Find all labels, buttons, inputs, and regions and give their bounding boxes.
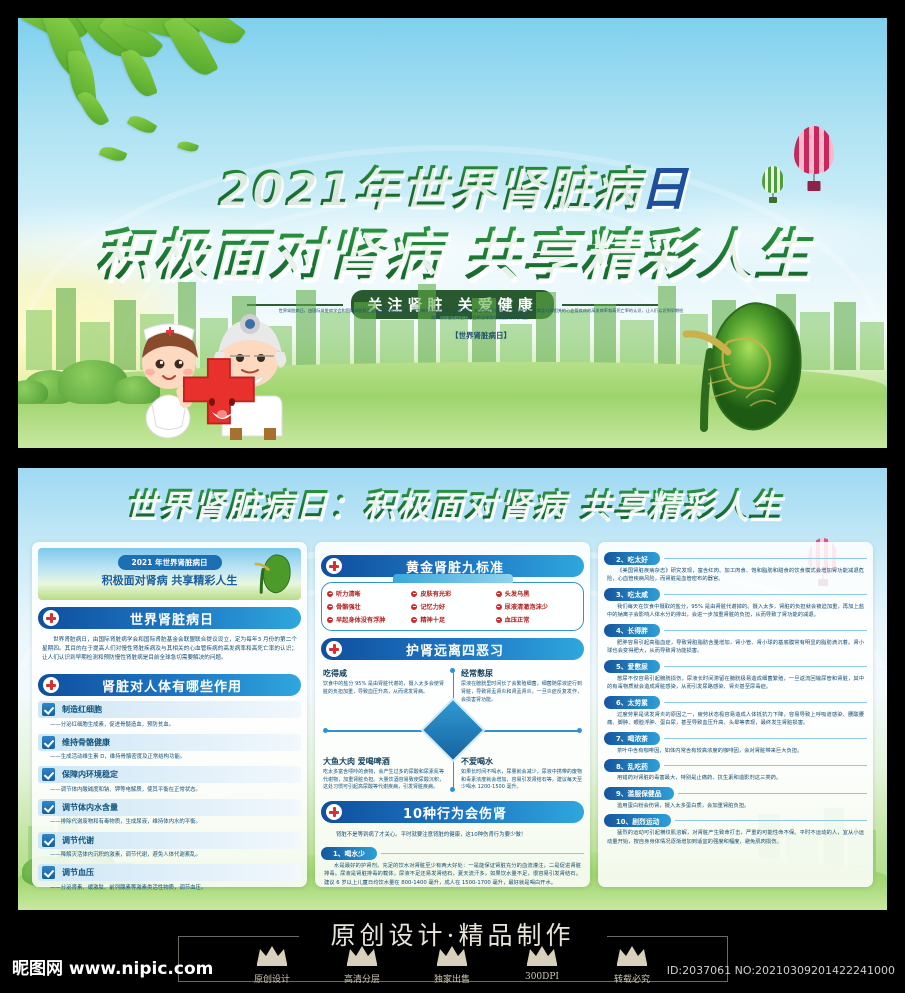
- rule-line: [675, 820, 867, 821]
- axis-node: [450, 787, 455, 792]
- section-title: 护肾远离四恶习: [342, 640, 584, 659]
- list-item: 制造红细胞 ——分泌红细胞生成素，促进骨髓造血，预防贫血。: [38, 701, 301, 730]
- section-title: 10种行为会伤肾: [342, 803, 584, 822]
- numbered-item-text: 猛烈的运动可引起横纹肌溶解，对肾脏产生致命打击，严重的可能性命不保。平时不运动的…: [604, 827, 867, 846]
- badge-label: 原创设计: [232, 972, 312, 985]
- nine-item-label: 精神十足: [420, 615, 445, 624]
- habit-text: 如果长时间不喝水，尿量就会减少，尿液中携带的废物和毒素浓度就会增加，容易引发肾结…: [461, 769, 582, 792]
- numbered-item: 7、喝浓茶 茶叶中含有咖啡因，如体内常含有较高浓度的咖啡因，会对肾脏带来巨大负担…: [604, 732, 867, 755]
- nine-standards-box: 听力清晰 皮肤有光彩 头发乌黑 骨骼强壮 记忆力好 尿液清澈泡沫少 早起身体没有…: [321, 582, 584, 631]
- nine-item-label: 尿液清澈泡沫少: [505, 602, 548, 611]
- four-habits-diagram: 吃得咸 饮食中的盐分 95% 是由肾脏代谢的，摄入太多会使肾脏的负担加重，导致血…: [321, 666, 584, 794]
- axis-node: [323, 728, 328, 733]
- section-header-four-habits: 护肾远离四恶习: [321, 638, 584, 660]
- nine-item: 精神十足: [411, 615, 493, 624]
- watermark-cn: 昵图网: [12, 959, 63, 979]
- bullet-icon: [496, 591, 502, 597]
- top-banner: 2021年世界肾脏病日 积极面对肾病 共享精彩人生 关注肾脏 关爱健康: [18, 18, 887, 448]
- numbered-item: 3、吃太咸 我们每天在饮食中摄取的盐分，95% 是由肾脏代谢掉的。摄入太多，肾脏…: [604, 588, 867, 620]
- check-icon: [42, 866, 55, 879]
- item-number-pill: 7、喝浓茶: [604, 732, 660, 745]
- center-diamond: [420, 697, 485, 762]
- bullet-icon: [327, 591, 333, 597]
- numbered-item-text: 《美国肾脏疾病杂志》研究发现，富含红肉、加工肉食、饱和脂肪和甜食的饮食模式会增加…: [604, 565, 867, 584]
- column-middle: 黄金肾脏九标准 听力清晰 皮肤有光彩 头发乌黑 骨骼强壮 记忆力好 尿液清澈泡沫…: [315, 542, 590, 887]
- section-header-kidney-functions: 肾脏对人体有哪些作用: [38, 674, 301, 696]
- column-right: 2、吃太好 《美国肾脏疾病杂志》研究发现，富含红肉、加工肉食、饱和脂肪和甜食的饮…: [598, 542, 873, 887]
- section-header-world-kidney-day: 世界肾脏病日: [38, 607, 301, 629]
- numbered-item: 2、吃太好 《美国肾脏疾病杂志》研究发现，富含红肉、加工肉食、饱和脂肪和甜食的饮…: [604, 552, 867, 584]
- mini-banner-pill: 2021 年世界肾脏病日: [118, 555, 222, 570]
- bullet-icon: [411, 617, 417, 623]
- nine-item-label: 头发乌黑: [505, 589, 530, 598]
- check-icon: [42, 834, 55, 847]
- numbered-item-header: 1、喝水少: [321, 847, 584, 860]
- banner-paragraph: 世界肾脏病日，由国际肾脏病学会和国际肾脏基金会联盟联合提议设立，定为每年3月份的…: [278, 308, 684, 321]
- panel-title: 世界肾脏病日：积极面对肾病 共享精彩人生: [18, 478, 887, 526]
- habit-title: 大鱼大肉 爱喝啤酒: [323, 756, 444, 767]
- badge-item: 独家出售: [412, 944, 492, 985]
- habit-title: 吃得咸: [323, 668, 444, 679]
- numbered-item-text: 用错药对肾脏的毒害最大，特别是止痛药、抗生素和造影剂这三类药。: [604, 772, 867, 782]
- list-item-note: ——排除代谢废物和有毒物质，生成尿液，维持体内水的平衡。: [38, 816, 301, 828]
- watermark-url: www.nipic.com: [69, 959, 213, 979]
- habit-block: 吃得咸 饮食中的盐分 95% 是由肾脏代谢的，摄入太多会使肾脏的负担加重，导致血…: [323, 668, 444, 697]
- panel-columns: 2021 年世界肾脏病日 积极面对肾病 共享精彩人生 世界肾脏病日 世界肾脏病日…: [18, 542, 887, 887]
- habit-block: 大鱼大肉 爱喝啤酒 吃太多富含嘌呤的食物，会产生过多的尿酸和尿素氮等代谢物，加重…: [323, 756, 444, 792]
- crown-icon: [435, 944, 469, 966]
- nine-item: 记忆力好: [411, 602, 493, 611]
- bullet-icon: [327, 604, 333, 610]
- list-item: 维持骨骼健康 ——生成活动维生素 D，维持骨骼密度及正常结构功能。: [38, 734, 301, 763]
- list-item: 调节血压 ——分泌肾素、缓激肽、前列腺素等激素类活性物质，调节血压。: [38, 864, 301, 893]
- middle-card: 黄金肾脏九标准 听力清晰 皮肤有光彩 头发乌黑 骨骼强壮 记忆力好 尿液清澈泡沫…: [315, 542, 590, 887]
- list-item-note: ——分泌红细胞生成素，促进骨髓造血，预防贫血。: [38, 718, 301, 730]
- crown-icon: [525, 944, 559, 966]
- numbered-item-text: 水是最好的护肾剂。充足的饮水对肾脏至少有两大好处：一是能保证肾脏充分的血流灌注，…: [321, 860, 584, 887]
- rule-line: [664, 738, 867, 739]
- item-number-pill: 10、剧烈运动: [604, 814, 671, 827]
- nurse-doctor-characters: [122, 300, 302, 440]
- mini-banner-subtitle: 积极面对肾病 共享精彩人生: [102, 572, 238, 588]
- footer-badges: 原创设计 高清分层 独家出售 300DPI 转载必究: [232, 944, 672, 985]
- item-number-pill: 3、吃太咸: [604, 588, 660, 601]
- section-title: 世界肾脏病日: [59, 609, 301, 628]
- nine-item: 头发乌黑: [496, 589, 578, 598]
- habit-title: 不爱喝水: [461, 756, 582, 767]
- list-item-label: 调节血压: [62, 867, 94, 878]
- badge-label: 高清分层: [322, 972, 402, 985]
- list-item-note: ——降解灭活体内沉积的激素，调节代谢，避免人体代谢紊乱。: [38, 849, 301, 861]
- numbered-item: 10、剧烈运动 猛烈的运动可引起横纹肌溶解，对肾脏产生致命打击，严重的可能性命不…: [604, 814, 867, 846]
- badge-item: 300DPI: [502, 944, 582, 985]
- bullet-icon: [411, 604, 417, 610]
- banner-tagline: 【世界肾脏病日】: [278, 330, 684, 341]
- badge-label: 转载必究: [592, 972, 672, 985]
- list-item-label: 调节代谢: [62, 835, 94, 846]
- numbered-item-text: 过度劳累是诱发肾炎的原因之一，疲劳状态极容易造成人体抵抗力下降，容易导致上呼吸道…: [604, 709, 867, 728]
- info-panel: 世界肾脏病日：积极面对肾病 共享精彩人生 2021 年世界肾脏病日 积极面对肾病…: [18, 468, 887, 910]
- nine-item: 皮肤有光彩: [411, 589, 493, 598]
- list-item-note: ——调节体内酸碱度和钠、钾等电解质，使其平衡在正常状态。: [38, 783, 301, 795]
- list-item-note: ——生成活动维生素 D，维持骨骼密度及正常结构功能。: [38, 751, 301, 763]
- item-number-pill: 1、喝水少: [321, 847, 377, 860]
- rule-line: [664, 558, 867, 559]
- kidney-illustration-icon: [670, 294, 810, 440]
- nine-item-label: 血压正常: [505, 615, 530, 624]
- badge-label: 300DPI: [502, 972, 582, 982]
- red-cross-icon: [326, 558, 342, 574]
- nine-item-label: 早起身体没有浮肿: [336, 615, 386, 624]
- nine-item-label: 听力清晰: [336, 589, 361, 598]
- image-id-text: ID:2037061 NO:20210309201422241000: [667, 964, 895, 977]
- rule-line: [664, 594, 867, 595]
- item-number-pill: 9、滥服保健品: [604, 787, 674, 800]
- rule-line: [664, 630, 867, 631]
- list-item: 调节代谢 ——降解灭活体内沉积的激素，调节代谢，避免人体代谢紊乱。: [38, 832, 301, 861]
- nine-item: 血压正常: [496, 615, 578, 624]
- banner-title-line1: 2021年世界肾脏病日: [18, 150, 887, 219]
- right-card: 2、吃太好 《美国肾脏疾病杂志》研究发现，富含红肉、加工肉食、饱和脂肪和甜食的饮…: [598, 542, 873, 887]
- item-number-pill: 2、吃太好: [604, 552, 660, 565]
- item-number-pill: 8、乱吃药: [604, 759, 660, 772]
- rule-line: [664, 666, 867, 667]
- nine-item-label: 记忆力好: [420, 602, 445, 611]
- numbered-item-text: 肥胖容易引起高脂血症，导致肾脏脂肪含量增加，肾小管、肾小球的基底膜常有明显的脂肪…: [604, 637, 867, 656]
- numbered-item: 8、乱吃药 用错药对肾脏的毒害最大，特别是止痛药、抗生素和造影剂这三类药。: [604, 759, 867, 782]
- red-cross-icon: [43, 677, 59, 693]
- badge-item: 高清分层: [322, 944, 402, 985]
- list-item-label: 维持骨骼健康: [62, 737, 110, 748]
- check-icon: [42, 736, 55, 749]
- red-cross-icon: [326, 641, 342, 657]
- numbered-item-text: 茶叶中含有咖啡因，如体内常含有较高浓度的咖啡因，会对肾脏带来巨大负担。: [604, 745, 867, 755]
- section-title: 黄金肾脏九标准: [342, 557, 584, 576]
- section-header-ten-behaviors: 10种行为会伤肾: [321, 801, 584, 823]
- numbered-item-text: 滥用蛋白粉会伤肾，摄入太多蛋白质，会加重肾脏负担。: [604, 800, 867, 810]
- nine-item-label: 皮肤有光彩: [420, 589, 451, 598]
- kidney-illustration-icon: [251, 552, 293, 596]
- numbered-item: 4、长得胖 肥胖容易引起高脂血症，导致肾脏脂肪含量增加，肾小管、肾小球的基底膜常…: [604, 624, 867, 656]
- item-number-pill: 5、爱憋尿: [604, 660, 660, 673]
- numbered-item: 9、滥服保健品 滥用蛋白粉会伤肾，摄入太多蛋白质，会加重肾脏负担。: [604, 787, 867, 810]
- check-icon: [42, 703, 55, 716]
- habit-text: 吃太多富含嘌呤的食物，会产生过多的尿酸和尿素氮等代谢物，加重肾脏负担。大量饮酒容…: [323, 769, 444, 792]
- habit-title: 经常憋尿: [461, 668, 582, 679]
- nine-item: 尿液清澈泡沫少: [496, 602, 578, 611]
- badge-item: 转载必究: [592, 944, 672, 985]
- column-left: 2021 年世界肾脏病日 积极面对肾病 共享精彩人生 世界肾脏病日 世界肾脏病日…: [32, 542, 307, 887]
- item-number-pill: 4、长得胖: [604, 624, 660, 637]
- bullet-icon: [496, 617, 502, 623]
- bullet-icon: [411, 591, 417, 597]
- crown-icon: [615, 944, 649, 966]
- habit-block: 经常憋尿 尿液在膀胱里时间长了会繁殖细菌，细菌随尿液逆行到肾脏，导致肾盂肾炎和肾…: [461, 668, 582, 704]
- numbered-item-text: 憋尿不仅容易引起膀胱损伤，尿液长时间滞留在膀胱极易造成细菌繁殖，一旦返流回输尿管…: [604, 673, 867, 692]
- red-cross-icon: [326, 804, 342, 820]
- badge-label: 独家出售: [412, 972, 492, 985]
- crown-icon: [345, 944, 379, 966]
- check-icon: [42, 801, 55, 814]
- left-card: 2021 年世界肾脏病日 积极面对肾病 共享精彩人生 世界肾脏病日 世界肾脏病日…: [32, 542, 307, 887]
- badge-item: 原创设计: [232, 944, 312, 985]
- crown-icon: [255, 944, 289, 966]
- section-paragraph: 世界肾脏病日，由国际肾脏病学会和国际肾脏基金会联盟联合提议设立，定为每年3 月份…: [38, 634, 301, 667]
- bullet-icon: [496, 604, 502, 610]
- item-number-pill: 6、太劳累: [604, 696, 660, 709]
- section-title: 肾脏对人体有哪些作用: [59, 676, 301, 695]
- numbered-item-text: 我们每天在饮食中摄取的盐分，95% 是由肾脏代谢掉的。摄入太多，肾脏的负担就会被…: [604, 601, 867, 620]
- check-icon: [42, 768, 55, 781]
- list-item-label: 制造红细胞: [62, 704, 102, 715]
- habit-block: 不爱喝水 如果长时间不喝水，尿量就会减少，尿液中携带的废物和毒素浓度就会增加，容…: [461, 756, 582, 792]
- bullet-icon: [327, 617, 333, 623]
- list-item-note: ——分泌肾素、缓激肽、前列腺素等激素类活性物质，调节血压。: [38, 881, 301, 893]
- axis-node: [450, 668, 455, 673]
- habit-text: 尿液在膀胱里时间长了会繁殖细菌，细菌随尿液逆行到肾脏，导致肾盂肾炎和肾盂肾炎，一…: [461, 681, 582, 704]
- rule-line: [664, 765, 867, 766]
- list-item-label: 调节体内水含量: [62, 802, 118, 813]
- axis-node: [577, 728, 582, 733]
- red-cross-icon: [43, 610, 59, 626]
- habit-text: 饮食中的盐分 95% 是由肾脏代谢的，摄入太多会使肾脏的负担加重，导致血压升高，…: [323, 681, 444, 697]
- numbered-item: 6、太劳累 过度劳累是诱发肾炎的原因之一，疲劳状态极容易造成人体抵抗力下降，容易…: [604, 696, 867, 728]
- kidney-function-list: 制造红细胞 ——分泌红细胞生成素，促进骨髓造血，预防贫血。 维持骨骼健康 ——生…: [38, 701, 301, 893]
- list-item: 调节体内水含量 ——排除代谢废物和有毒物质，生成尿液，维持体内水的平衡。: [38, 799, 301, 828]
- nine-item: 听力清晰: [327, 589, 409, 598]
- rule-line: [678, 793, 867, 794]
- ten-intro-text: 肾脏不是等到病了才关心。平时就要注意肾脏的健康，这10种伤肾行为要少做！: [321, 828, 584, 843]
- rule-line: [381, 853, 584, 854]
- nine-item: 早起身体没有浮肿: [327, 615, 409, 624]
- nine-item-label: 骨骼强壮: [336, 602, 361, 611]
- watermark: 昵图网 www.nipic.com: [12, 954, 213, 979]
- rule-line: [664, 702, 867, 703]
- list-item: 保障内环境稳定 ——调节体内酸碱度和钠、钾等电解质，使其平衡在正常状态。: [38, 766, 301, 795]
- list-item-label: 保障内环境稳定: [62, 769, 118, 780]
- footer-bar: 原创设计·精品制作 原创设计 高清分层 独家出售 300DPI 转载必究 昵图网…: [0, 910, 905, 993]
- nine-item: 骨骼强壮: [327, 602, 409, 611]
- mini-banner: 2021 年世界肾脏病日 积极面对肾病 共享精彩人生: [38, 548, 301, 600]
- nine-standards-grid: 听力清晰 皮肤有光彩 头发乌黑 骨骼强壮 记忆力好 尿液清澈泡沫少 早起身体没有…: [327, 589, 578, 624]
- numbered-item: 5、爱憋尿 憋尿不仅容易引起膀胱损伤，尿液长时间滞留在膀胱极易造成细菌繁殖，一旦…: [604, 660, 867, 692]
